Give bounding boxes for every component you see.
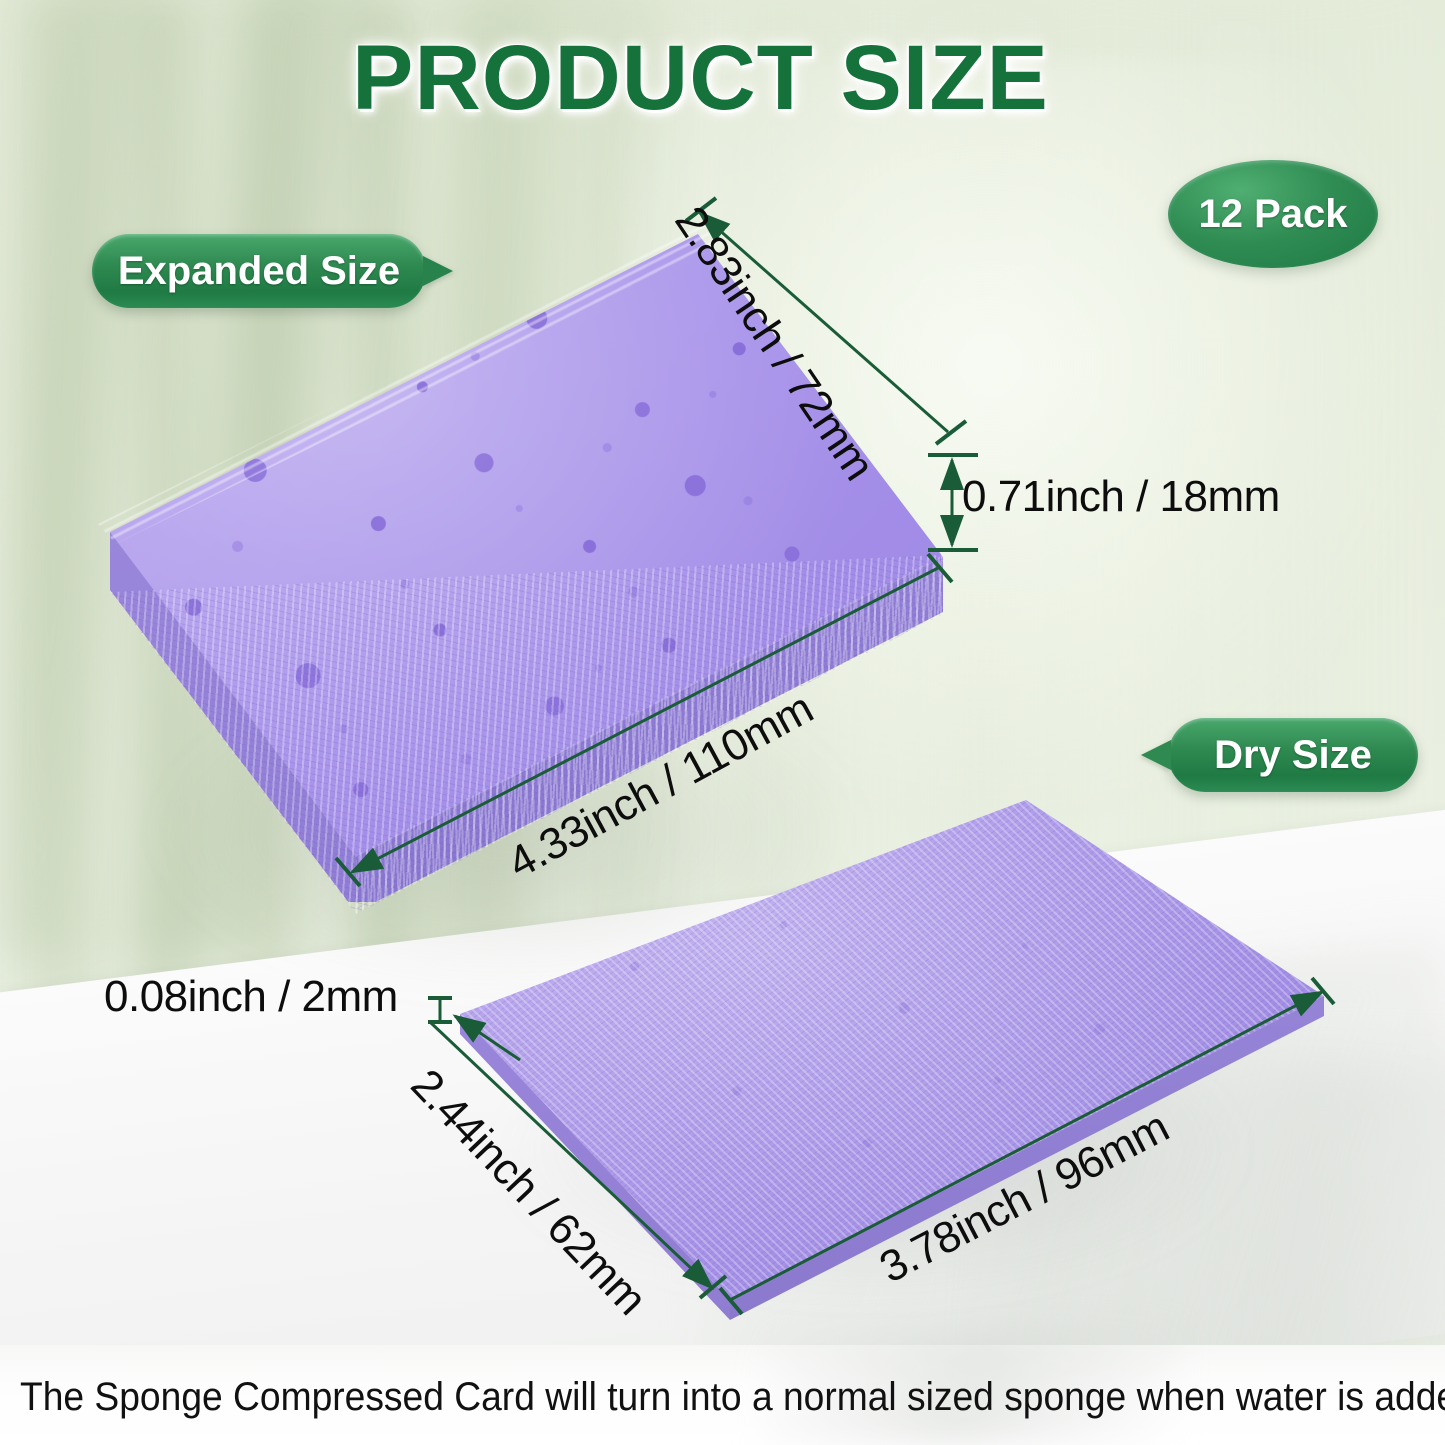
product-size-infographic: PRODUCT SIZE [0,0,1445,1445]
badge-expanded-size: Expanded Size [92,234,426,308]
badge-expanded-size-label: Expanded Size [118,249,400,294]
badge-dry-size-label: Dry Size [1214,733,1372,778]
dimension-label-height-dry: 0.08inch / 2mm [104,972,398,1022]
page-title: PRODUCT SIZE [352,26,1049,131]
badge-dry-size: Dry Size [1168,718,1418,792]
dimension-label-height-expanded: 0.71inch / 18mm [962,472,1280,522]
badge-pack-count-label: 12 Pack [1198,192,1347,237]
badge-pack-count: 12 Pack [1168,160,1378,268]
footer-caption: The Sponge Compressed Card will turn int… [20,1375,1331,1420]
expanded-sponge-image [88,212,968,902]
